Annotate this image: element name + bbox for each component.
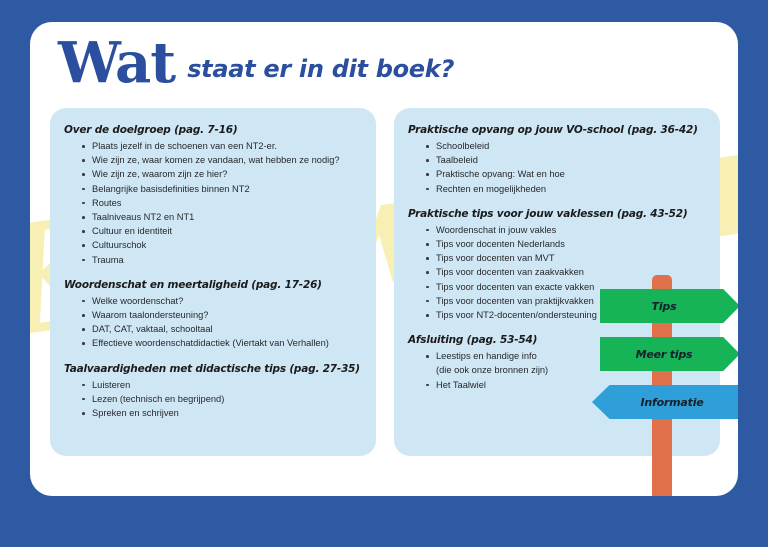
paper-sheet: Kijkwijzer Wat staat er in dit boek? Ove… bbox=[30, 22, 738, 496]
list-item: DAT, CAT, vaktaal, schooltaal bbox=[82, 322, 362, 336]
list-item: Tips voor docenten Nederlands bbox=[426, 237, 706, 251]
section-over-de-doelgroep: Over de doelgroep (pag. 7-16) Plaats jez… bbox=[64, 124, 362, 267]
list-item: Cultuurschok bbox=[82, 238, 362, 252]
page-root: Kijkwijzer Wat staat er in dit boek? Ove… bbox=[0, 0, 768, 547]
list-item: Welke woordenschat? bbox=[82, 294, 362, 308]
list-item: Praktische opvang: Wat en hoe bbox=[426, 167, 706, 181]
section-woordenschat-en-meertaligheid: Woordenschat en meertaligheid (pag. 17-2… bbox=[64, 279, 362, 351]
section-praktische-opvang: Praktische opvang op jouw VO-school (pag… bbox=[408, 124, 706, 196]
list-item: Luisteren bbox=[82, 378, 362, 392]
list-item: Wie zijn ze, waarom zijn ze hier? bbox=[82, 167, 362, 181]
left-column-panel: Over de doelgroep (pag. 7-16) Plaats jez… bbox=[50, 108, 376, 456]
section-heading: Praktische opvang op jouw VO-school (pag… bbox=[408, 124, 706, 136]
signpost-sign-meer-tips: Meer tips bbox=[600, 337, 738, 371]
page-title-main: Wat bbox=[58, 34, 175, 92]
section-item-list: Luisteren Lezen (technisch en begrijpend… bbox=[64, 378, 362, 421]
list-item: Woordenschat in jouw vakles bbox=[426, 223, 706, 237]
list-item: Tips voor docenten van MVT bbox=[426, 251, 706, 265]
section-heading: Woordenschat en meertaligheid (pag. 17-2… bbox=[64, 279, 362, 291]
list-item: Spreken en schrijven bbox=[82, 406, 362, 420]
list-item: Routes bbox=[82, 196, 362, 210]
section-heading: Over de doelgroep (pag. 7-16) bbox=[64, 124, 362, 136]
section-item-list: Welke woordenschat? Waarom taalondersteu… bbox=[64, 294, 362, 351]
section-item-list: Plaats jezelf in de schoenen van een NT2… bbox=[64, 139, 362, 267]
list-item: Cultuur en identiteit bbox=[82, 224, 362, 238]
signpost-graphic: Tips Meer tips Informatie bbox=[590, 267, 738, 496]
page-title: Wat staat er in dit boek? bbox=[58, 34, 454, 92]
list-item: Lezen (technisch en begrijpend) bbox=[82, 392, 362, 406]
list-item: Waarom taalondersteuning? bbox=[82, 308, 362, 322]
section-heading: Taalvaardigheden met didactische tips (p… bbox=[64, 363, 362, 375]
list-item: Taalbeleid bbox=[426, 153, 706, 167]
list-item: Trauma bbox=[82, 253, 362, 267]
signpost-sign-informatie: Informatie bbox=[592, 385, 738, 419]
list-item: Wie zijn ze, waar komen ze vandaan, wat … bbox=[82, 153, 362, 167]
section-item-list: Schoolbeleid Taalbeleid Praktische opvan… bbox=[408, 139, 706, 196]
list-item: Taalniveaus NT2 en NT1 bbox=[82, 210, 362, 224]
page-title-subtitle: staat er in dit boek? bbox=[187, 52, 454, 86]
section-taalvaardigheden: Taalvaardigheden met didactische tips (p… bbox=[64, 363, 362, 421]
signpost-sign-tips: Tips bbox=[600, 289, 738, 323]
list-item-text: Leestips en handige info bbox=[436, 351, 537, 361]
list-item: Rechten en mogelijkheden bbox=[426, 182, 706, 196]
list-item: Schoolbeleid bbox=[426, 139, 706, 153]
section-heading: Praktische tips voor jouw vaklessen (pag… bbox=[408, 208, 706, 220]
list-item: Belangrijke basisdefinities binnen NT2 bbox=[82, 182, 362, 196]
list-item: Plaats jezelf in de schoenen van een NT2… bbox=[82, 139, 362, 153]
list-item: Effectieve woordenschatdidactiek (Vierta… bbox=[82, 336, 362, 350]
